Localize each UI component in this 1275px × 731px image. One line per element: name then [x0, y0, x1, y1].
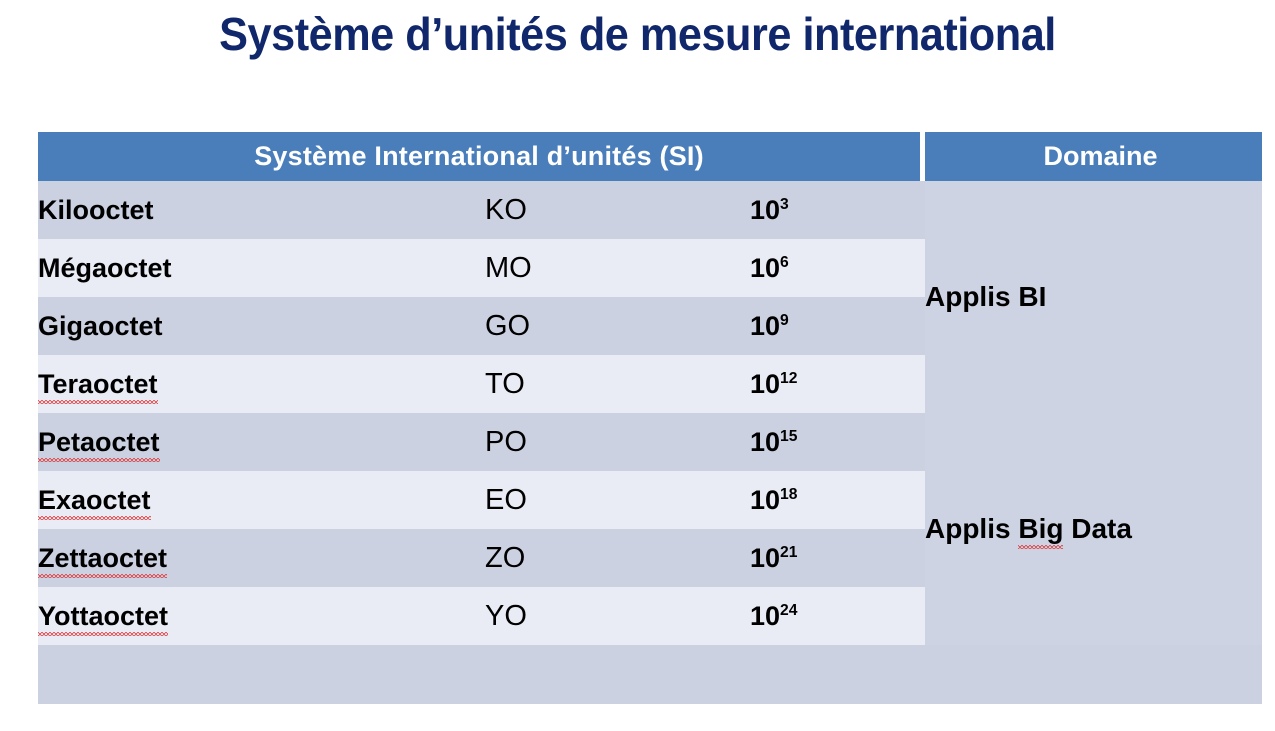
unit-name-text: Teraoctet — [38, 369, 158, 400]
cell-unit-power: 1018 — [735, 471, 925, 529]
power-exponent: 21 — [780, 544, 797, 561]
table-header-row: Système International d’unités (SI) Doma… — [38, 132, 1262, 181]
cell-unit-power-empty — [735, 645, 925, 704]
cell-unit-name: Zettaoctet — [38, 529, 470, 587]
cell-unit-power: 1012 — [735, 355, 925, 413]
unit-name-text: Yottaoctet — [38, 601, 168, 632]
cell-unit-abbr-empty — [470, 645, 735, 704]
cell-domain-empty — [925, 645, 1262, 704]
cell-unit-abbr: GO — [470, 297, 735, 355]
table-row: Petaoctet PO 1015 Applis Big Data — [38, 413, 1262, 471]
power-exponent: 6 — [780, 254, 789, 271]
power-base: 10 — [750, 601, 780, 631]
power-base: 10 — [750, 195, 780, 225]
cell-unit-name: Mégaoctet — [38, 239, 470, 297]
domain-label-part1: Applis — [925, 513, 1018, 544]
power-base: 10 — [750, 311, 780, 341]
cell-unit-power: 1024 — [735, 587, 925, 645]
power-exponent: 18 — [780, 486, 797, 503]
cell-unit-name: Kilooctet — [38, 181, 470, 239]
column-header-si: Système International d’unités (SI) — [38, 132, 925, 181]
cell-unit-abbr: MO — [470, 239, 735, 297]
power-base: 10 — [750, 485, 780, 515]
unit-name-text: Gigaoctet — [38, 311, 163, 341]
cell-unit-abbr: ZO — [470, 529, 735, 587]
cell-unit-abbr: YO — [470, 587, 735, 645]
column-header-domaine: Domaine — [925, 132, 1262, 181]
unit-name-text: Petaoctet — [38, 427, 160, 458]
table-row: Kilooctet KO 103 Applis BI — [38, 181, 1262, 239]
table-row-empty — [38, 645, 1262, 704]
cell-unit-power: 1021 — [735, 529, 925, 587]
power-base: 10 — [750, 427, 780, 457]
domain-label-part2: BI — [1018, 281, 1046, 312]
cell-unit-abbr: KO — [470, 181, 735, 239]
power-exponent: 12 — [780, 370, 797, 387]
cell-unit-name: Yottaoctet — [38, 587, 470, 645]
domain-label-part2: Big — [1018, 513, 1063, 545]
power-exponent: 3 — [780, 196, 789, 213]
cell-unit-power: 1015 — [735, 413, 925, 471]
unit-name-text: Kilooctet — [38, 195, 154, 225]
unit-name-text: Exaoctet — [38, 485, 151, 516]
cell-unit-name: Teraoctet — [38, 355, 470, 413]
power-base: 10 — [750, 253, 780, 283]
cell-unit-abbr: TO — [470, 355, 735, 413]
cell-unit-power: 103 — [735, 181, 925, 239]
page-title: Système d’unités de mesure international — [38, 6, 1237, 62]
domain-label-part3: Data — [1063, 513, 1131, 544]
si-units-table: Système International d’unités (SI) Doma… — [38, 132, 1262, 704]
power-base: 10 — [750, 543, 780, 573]
cell-unit-abbr: EO — [470, 471, 735, 529]
table-header: Système International d’unités (SI) Doma… — [38, 132, 1262, 181]
cell-unit-name: Petaoctet — [38, 413, 470, 471]
cell-unit-name: Gigaoctet — [38, 297, 470, 355]
cell-unit-power: 109 — [735, 297, 925, 355]
cell-unit-abbr: PO — [470, 413, 735, 471]
table-body: Kilooctet KO 103 Applis BI Mégaoctet MO … — [38, 181, 1262, 704]
slide-canvas: Système d’unités de mesure international… — [0, 0, 1275, 731]
cell-unit-power: 106 — [735, 239, 925, 297]
unit-name-text: Mégaoctet — [38, 253, 172, 283]
power-exponent: 24 — [780, 602, 797, 619]
cell-domain-bi: Applis BI — [925, 181, 1262, 413]
power-base: 10 — [750, 369, 780, 399]
power-exponent: 9 — [780, 312, 789, 329]
cell-unit-name-empty — [38, 645, 470, 704]
unit-name-text: Zettaoctet — [38, 543, 167, 574]
power-exponent: 15 — [780, 428, 797, 445]
cell-domain-bigdata: Applis Big Data — [925, 413, 1262, 645]
cell-unit-name: Exaoctet — [38, 471, 470, 529]
domain-label-part1: Applis — [925, 281, 1018, 312]
